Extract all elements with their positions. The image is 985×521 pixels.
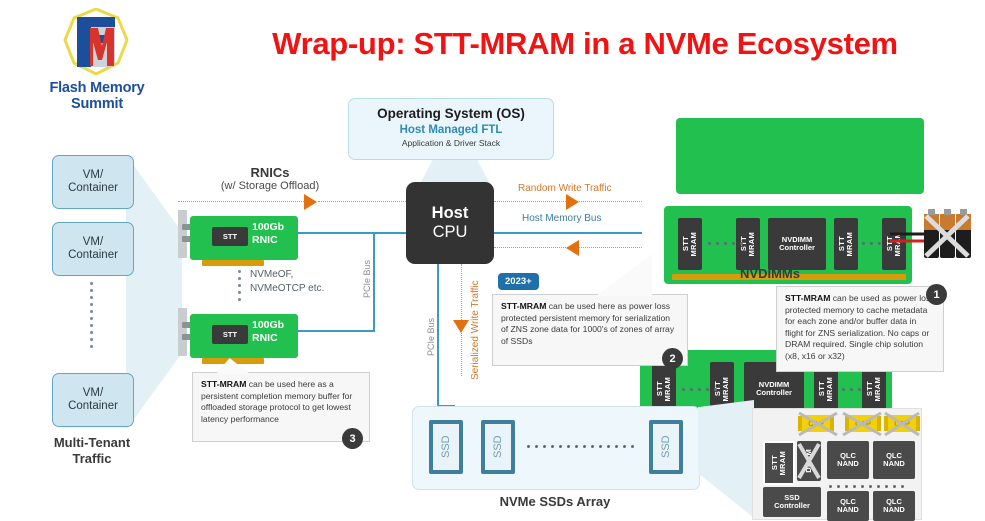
ssd-drive-1-label: SSD: [433, 424, 459, 470]
ssd-internal-ellipsis: [829, 485, 904, 488]
nvdimms-caption: NVDIMMs: [700, 266, 840, 282]
protocol-line2: NVMeOTCP etc.: [250, 282, 324, 296]
bus-spine-to-cpu: [373, 232, 408, 234]
rnic-label-1-line1: 100Gb: [252, 221, 296, 234]
nvme-ssd-array-caption: NVMe SSDs Array: [465, 494, 645, 510]
multi-tenant-traffic-caption: Multi-Tenant Traffic: [32, 435, 152, 466]
random-write-dotted-left: [178, 201, 304, 202]
capacitor-3-label: CAP: [894, 419, 910, 428]
callout-3-lead: STT-MRAM: [201, 379, 246, 389]
rnics-heading: RNICs: [195, 165, 345, 181]
vm-column-ellipsis: [90, 282, 93, 370]
callout-1-text: can be used as power loss protected memo…: [785, 293, 935, 361]
callout-3-number: 3: [342, 428, 363, 449]
vm-container-label-2-line2: Container: [68, 249, 118, 262]
ssd-array-ellipsis: [527, 445, 634, 448]
multi-tenant-line1: Multi-Tenant: [32, 435, 152, 451]
return-traffic-arrow: [566, 240, 579, 256]
rnic-bracket-2: [178, 308, 187, 356]
callout-2-year-badge: 2023+: [498, 273, 539, 290]
multi-tenant-line2: Traffic: [32, 451, 152, 467]
vm-container-label-3-line1: VM/: [83, 387, 103, 400]
rnic-label-2-line2: RNIC: [252, 332, 296, 345]
callout-2: STT-MRAM can be used here as power loss …: [492, 294, 688, 366]
nvme-ssd-array-panel: SSD SSD SSD: [412, 406, 700, 490]
vm-container-box-3: VM/ Container: [52, 373, 134, 427]
capacitor-3: CAP: [887, 415, 917, 432]
capacitor-1-label: CAP: [808, 419, 824, 428]
brand-name: Flash Memory Summit: [22, 80, 172, 112]
logo-badge-icon: [60, 8, 132, 78]
os-to-cpu-connector: [420, 160, 490, 184]
callout-2-lead: STT-MRAM: [501, 301, 546, 311]
callout-1-lead: STT-MRAM: [785, 293, 830, 303]
random-write-traffic-label: Random Write Traffic: [518, 183, 612, 194]
host-memory-bus-label: Host Memory Bus: [522, 213, 601, 224]
qlc-nand-chip-3: QLCNAND: [827, 491, 869, 521]
vm-container-label-1-line1: VM/: [83, 169, 103, 182]
rnic-connector-1: [202, 260, 264, 266]
nvdimm-back-ellipsis-1: [708, 242, 743, 245]
os-subtitle: Host Managed FTL: [349, 124, 553, 136]
ssd-drive-3: SSD: [649, 420, 683, 474]
rnic-pcb-1: STT 100Gb RNIC: [190, 216, 298, 260]
traffic-funnel: [126, 155, 182, 430]
page-title: Wrap-up: STT-MRAM in a NVMe Ecosystem: [195, 26, 975, 62]
vm-container-box-1: VM/ Container: [52, 155, 134, 209]
serialized-write-traffic-label: Serialized Write Traffic: [470, 272, 481, 380]
flash-memory-summit-logo: Flash Memory Summit: [22, 6, 172, 101]
host-memory-bus-line: [494, 232, 642, 234]
battery-icon: [920, 206, 974, 262]
capacitor-1: CAP: [801, 415, 831, 432]
vm-container-label-3-line2: Container: [68, 400, 118, 413]
stt-chip-1: STT: [212, 227, 248, 246]
random-write-dotted-mid: [318, 201, 408, 202]
serialized-write-arrow: [453, 320, 469, 333]
ssd-zoom-connector: [698, 400, 754, 518]
rnic-ellipsis: [238, 270, 241, 308]
capacitor-2: CAP: [848, 415, 878, 432]
ssd-drive-3-label: SSD: [653, 424, 679, 470]
qlc-nand-chip-4: QLCNAND: [873, 491, 915, 521]
host-cpu-line1: Host: [432, 204, 469, 223]
bus-rnic1-to-spine: [296, 232, 374, 234]
rnic-label-2: 100Gb RNIC: [252, 319, 296, 345]
pcie-bus-label-lower: PCIe Bus: [426, 296, 436, 356]
ssd-drive-1: SSD: [429, 420, 463, 474]
rnic-bracket-1: [178, 210, 187, 258]
rnic-label-1: 100Gb RNIC: [252, 221, 296, 247]
rnic-card-1: STT 100Gb RNIC: [178, 210, 298, 264]
nvdimm-module-back-2: [676, 118, 924, 194]
qlc-nand-chip-1: QLCNAND: [827, 441, 869, 479]
nvdimm-back-ellipsis-2: [862, 242, 881, 245]
stt-mram-chip-b3: STTMRAM: [834, 218, 858, 270]
protocol-line1: NVMeOF,: [250, 268, 324, 282]
nvdimm-controller-chip-back: NVDIMM Controller: [768, 218, 826, 270]
callout-1: STT-MRAM can be used as power loss prote…: [776, 286, 944, 372]
vm-container-label-1-line2: Container: [68, 182, 118, 195]
os-title: Operating System (OS): [349, 106, 553, 121]
stt-chip-2: STT: [212, 325, 248, 344]
bus-rnic2-to-spine: [296, 330, 374, 332]
rnic-label-2-line1: 100Gb: [252, 319, 296, 332]
pcie-bus-label-upper: PCIe Bus: [362, 238, 372, 298]
nvdimm-front-ellipsis-1: [682, 388, 717, 391]
qlc-nand-chip-2: QLCNAND: [873, 441, 915, 479]
capacitor-2-label: CAP: [855, 419, 871, 428]
rnic-card-2: STT 100Gb RNIC: [178, 308, 298, 362]
callout-1-number: 1: [926, 284, 947, 305]
vm-container-box-2: VM/ Container: [52, 222, 134, 276]
rnics-subheading: (w/ Storage Offload): [195, 180, 345, 192]
ssd-controller-chip: SSDController: [763, 487, 821, 517]
vm-container-label-2-line1: VM/: [83, 236, 103, 249]
ssd-internals-panel: CAP CAP CAP STTMRAM DRAM QLCNAND QLCNAND…: [752, 408, 922, 520]
random-write-arrow-right: [566, 194, 579, 210]
ssd-stt-mram-chip: STTMRAM: [763, 441, 795, 485]
os-detail: Application & Driver Stack: [349, 138, 553, 148]
ssd-drive-2-label: SSD: [485, 424, 511, 470]
bus-cpu-to-ssd: [437, 264, 439, 406]
bus-pcie-spine: [373, 232, 375, 332]
callout-2-number: 2: [662, 348, 683, 369]
battery-power-leads: [890, 230, 924, 251]
nvdimm-front-ellipsis-2: [842, 388, 861, 391]
protocol-label: NVMeOF, NVMeOTCP etc.: [250, 268, 324, 295]
ssd-drive-2: SSD: [481, 420, 515, 474]
host-cpu-block: Host CPU: [406, 182, 494, 264]
stt-mram-chip-b1: STTMRAM: [678, 218, 702, 270]
callout-2-pointer: [596, 254, 652, 296]
rnic-label-1-line2: RNIC: [252, 234, 296, 247]
host-cpu-line2: CPU: [433, 223, 468, 242]
operating-system-box: Operating System (OS) Host Managed FTL A…: [348, 98, 554, 160]
random-write-arrow-left: [304, 194, 317, 210]
rnic-pcb-2: STT 100Gb RNIC: [190, 314, 298, 358]
ssd-dram-chip: DRAM: [797, 441, 821, 481]
